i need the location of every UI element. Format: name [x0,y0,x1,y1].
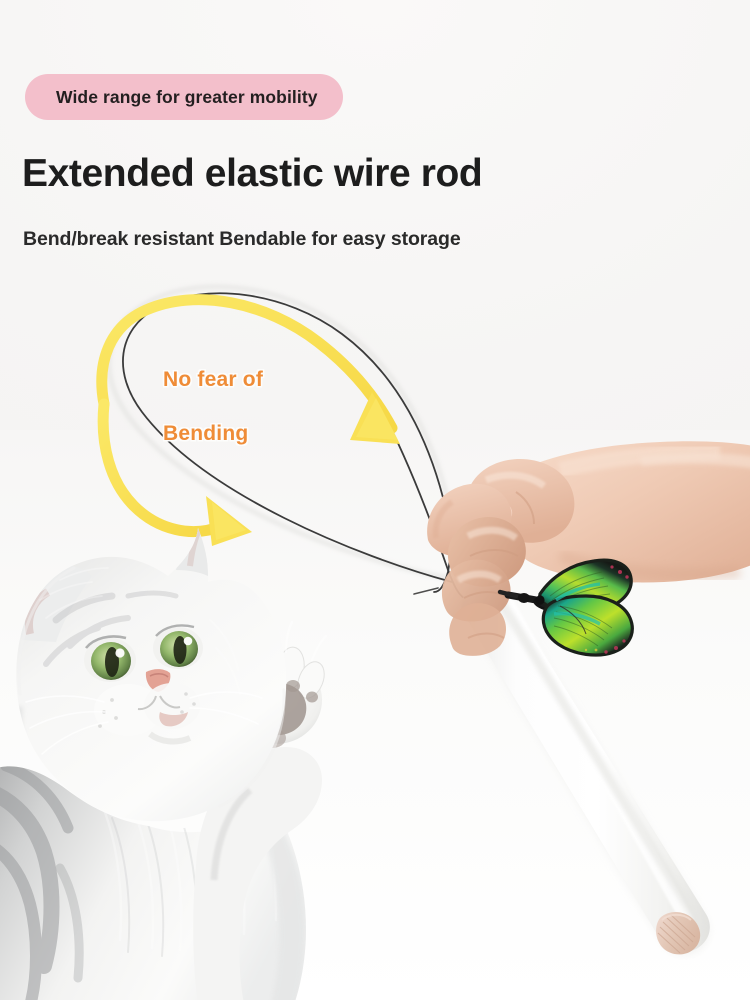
annotation-line-2: Bending [163,422,248,446]
page-title: Extended elastic wire rod [22,152,482,196]
annotation-line-1: No fear of [163,368,263,392]
feature-badge-label: Wide range for greater mobility [56,87,318,108]
cat-photo [0,520,329,1000]
promo-image: Wide range for greater mobility Extended… [0,0,750,1000]
page-subtitle: Bend/break resistant Bendable for easy s… [23,228,461,251]
feature-badge: Wide range for greater mobility [25,74,343,120]
product-photo [0,0,750,1000]
